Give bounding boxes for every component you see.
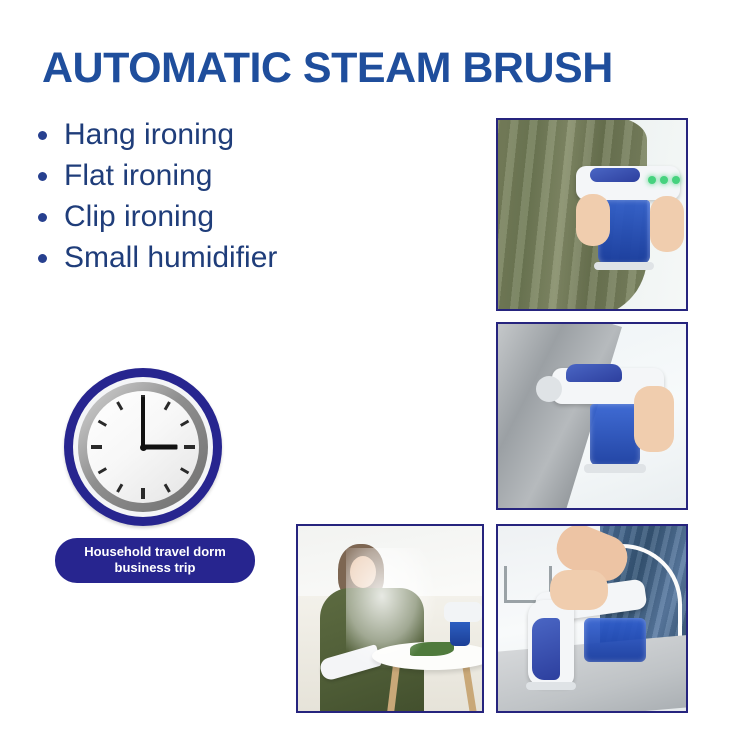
water-tank [584,618,646,662]
clock-bezel [78,382,208,512]
hand [550,570,608,610]
scene-small-humidifier [298,526,482,711]
water-tank [450,618,470,646]
list-item: Flat ironing [32,155,452,196]
steamer-accent [566,364,622,382]
steamer-base [526,682,576,690]
feature-label: Flat ironing [64,159,212,192]
water-tank [590,404,640,466]
clock-hour-hand [143,445,177,450]
badge-line-1: Household travel dorm [55,544,255,560]
list-item: Hang ironing [32,114,452,155]
bullet-icon [38,254,47,263]
bullet-icon [38,131,47,140]
clock-center-cap [140,444,147,451]
hand [634,386,674,452]
feature-label: Clip ironing [64,200,214,233]
clock-tick [141,447,145,499]
status-badge: Household travel dorm business trip [55,538,255,583]
scene-flat-ironing [498,324,686,508]
clock-block: Household travel dorm business trip [55,368,255,583]
clock-ring-gap [73,377,213,517]
steamer-accent [532,618,560,680]
steamer-body [444,602,482,622]
clock-tick [91,445,143,449]
clock-face [87,391,199,503]
tank-base [584,464,646,473]
feature-label: Hang ironing [64,118,234,151]
feature-list: Hang ironing Flat ironing Clip ironing S… [32,114,452,278]
bullet-icon [38,172,47,181]
feature-label: Small humidifier [64,241,277,274]
scene-clip-ironing [498,526,686,711]
page-title: AUTOMATIC STEAM BRUSH [42,46,712,91]
steam-cloud [346,548,436,668]
indicator-leds [648,176,680,184]
list-item: Clip ironing [32,196,452,237]
tank-base [594,262,654,270]
hand [576,194,610,246]
photo-panel-flat-ironing [496,322,688,510]
list-item: Small humidifier [32,237,452,278]
nozzle-ring [536,376,562,402]
clock-minute-hand [141,397,145,447]
hand [650,196,684,252]
badge-line-2: business trip [55,560,255,576]
photo-panel-hang-ironing [496,118,688,311]
clock-icon [64,368,222,526]
photo-panel-small-humidifier [296,524,484,713]
scene-hang-ironing [498,120,686,309]
bullet-icon [38,213,47,222]
steamer-accent [590,168,640,182]
photo-panel-clip-ironing [496,524,688,713]
